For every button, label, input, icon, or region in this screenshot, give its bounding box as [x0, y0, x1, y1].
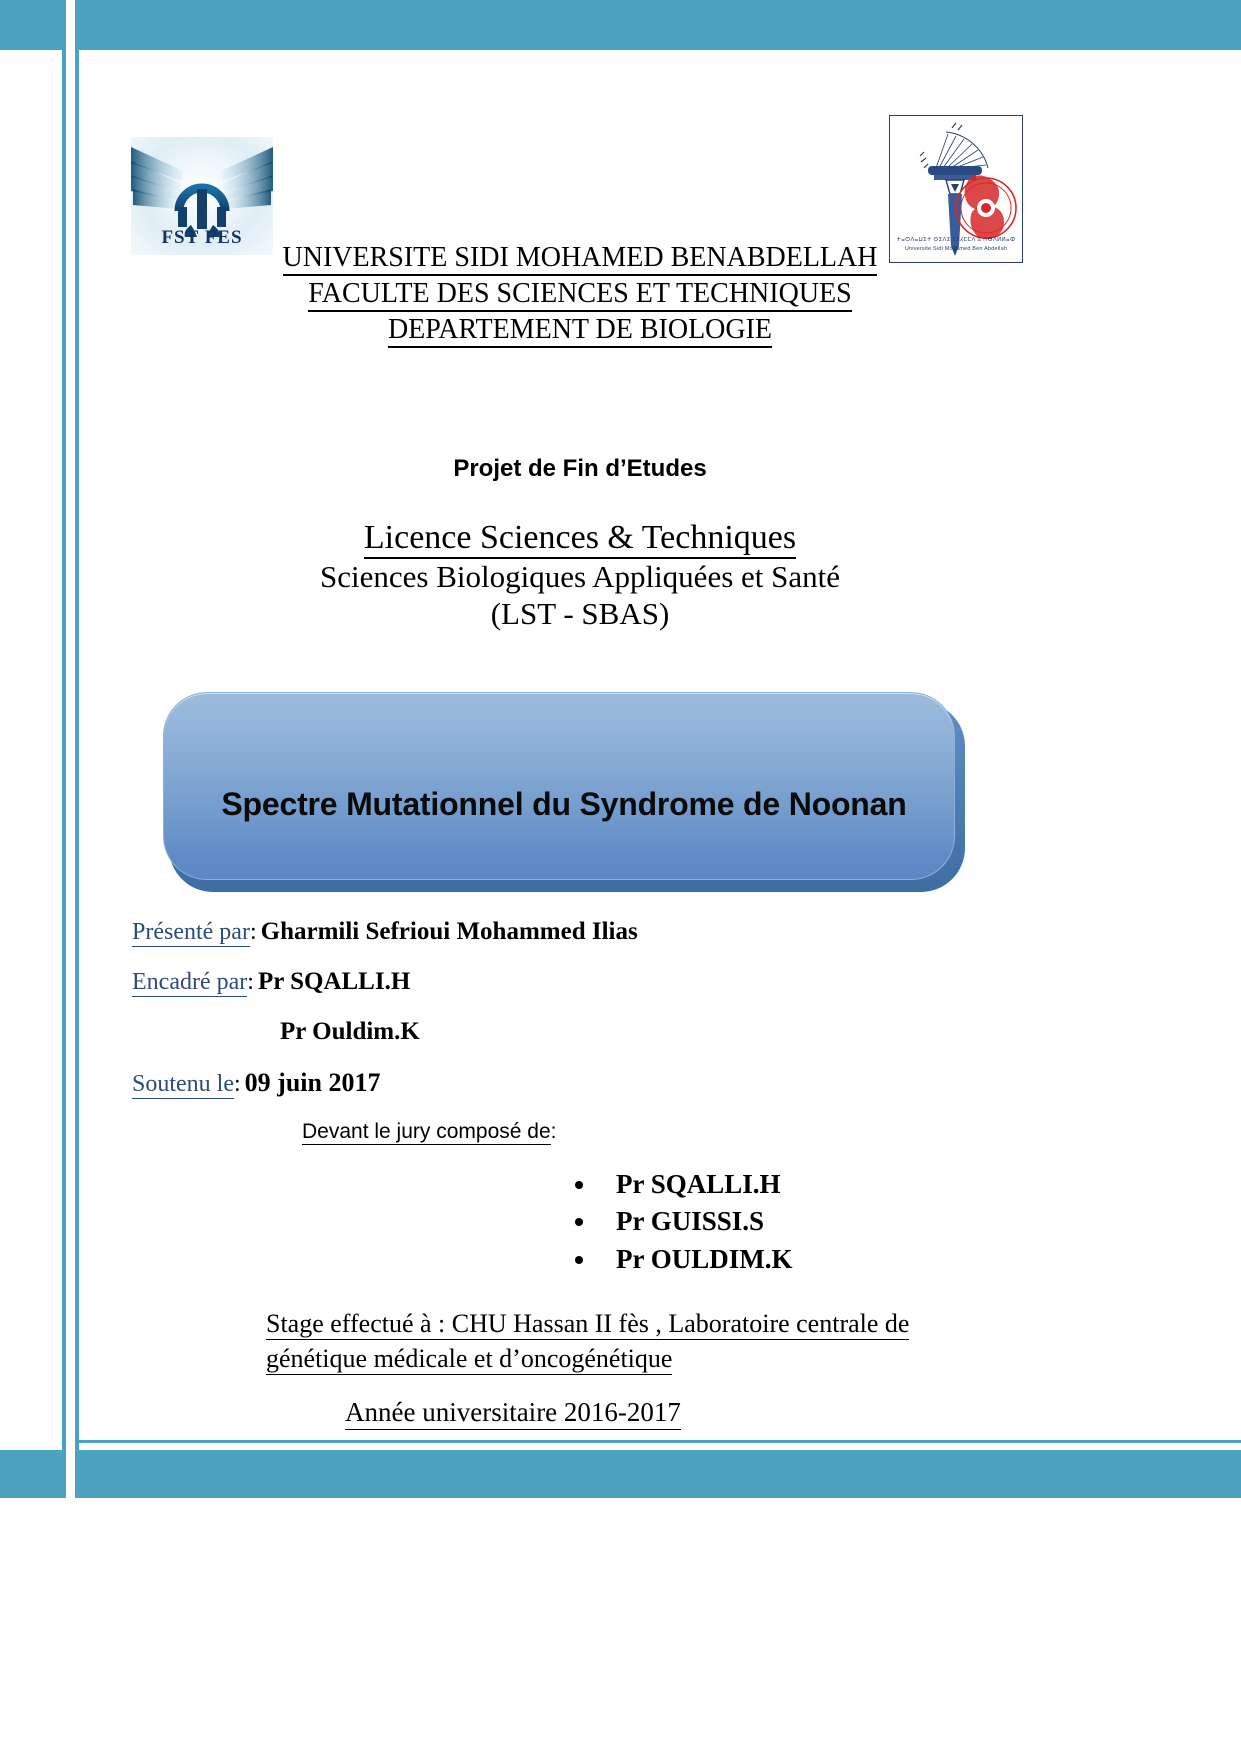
credit-row-supervisor: Encadré par: Pr SQALLI.H [132, 968, 1032, 996]
internship-line-1-text: Stage effectué à : CHU Hassan II fès , L… [266, 1309, 909, 1340]
presented-by-colon: : [250, 919, 257, 945]
supervisor-label: Encadré par [132, 969, 247, 997]
institution-header: UNIVERSITE SIDI MOHAMED BENABDELLAH FACU… [180, 240, 980, 347]
credit-row-defense-date: Soutenu le: 09 juin 2017 [132, 1068, 1032, 1098]
institution-line-department: DEPARTEMENT DE BIOLOGIE [180, 312, 980, 348]
supervisor-colon: : [247, 969, 254, 995]
project-type-label: Projet de Fin d’Etudes [180, 455, 980, 483]
jury-member-item: Pr OULDIM.K [598, 1241, 793, 1278]
institution-department-text: DEPARTEMENT DE BIOLOGIE [388, 314, 772, 348]
jury-heading-text: Devant le jury composé de [302, 1120, 551, 1145]
page-border-top-left-block [0, 0, 62, 50]
page-border-bottom-rule [79, 1440, 1241, 1443]
internship-line-2-text: génétique médicale et d’oncogénétique [266, 1344, 672, 1375]
presented-by-value: Gharmili Sefrioui Mohammed Ilias [261, 918, 638, 945]
institution-faculty-text: FACULTE DES SCIENCES ET TECHNIQUES [308, 278, 851, 312]
jury-heading-colon: : [551, 1120, 557, 1143]
fst-fes-logo: FST FES [131, 137, 273, 255]
internship-line-2: génétique médicale et d’oncogénétique [266, 1341, 966, 1376]
page-border-top-bar [79, 0, 1241, 50]
degree-block: Licence Sciences & Techniques Sciences B… [140, 518, 1020, 632]
jury-member-item: Pr SQALLI.H [598, 1166, 793, 1203]
credit-row-presented-by: Présenté par: Gharmili Sefrioui Mohammed… [132, 918, 1032, 946]
jury-heading: Devant le jury composé de: [302, 1120, 556, 1144]
page-border-bottom-left-block [0, 1450, 62, 1498]
internship-line-1: Stage effectué à : CHU Hassan II fès , L… [266, 1306, 966, 1341]
thesis-title-text: Spectre Mutationnel du Syndrome de Noona… [163, 786, 965, 823]
degree-diploma-text: Licence Sciences & Techniques [364, 519, 796, 559]
jury-member-item: Pr GUISSI.S [598, 1203, 793, 1240]
page-border-inner-vertical-line [75, 0, 79, 1498]
page-border-bottom-bar [79, 1450, 1241, 1498]
degree-code-text: (LST - SBAS) [140, 595, 1020, 632]
supervisor-value-primary: Pr SQALLI.H [258, 968, 410, 995]
defense-date-value: 09 juin 2017 [245, 1068, 381, 1097]
presented-by-label: Présenté par [132, 919, 250, 947]
jury-members-list: Pr SQALLI.H Pr GUISSI.S Pr OULDIM.K [560, 1166, 793, 1278]
internship-block: Stage effectué à : CHU Hassan II fès , L… [266, 1306, 966, 1376]
credits-block: Présenté par: Gharmili Sefrioui Mohammed… [132, 918, 1032, 1120]
institution-university-text: UNIVERSITE SIDI MOHAMED BENABDELLAH [283, 242, 878, 276]
supervisor-value-secondary: Pr Ouldim.K [132, 1018, 1032, 1046]
defense-date-label: Soutenu le [132, 1071, 234, 1099]
defense-date-colon: : [234, 1071, 241, 1097]
institution-line-university: UNIVERSITE SIDI MOHAMED BENABDELLAH [180, 240, 980, 276]
page-border-outer-vertical-line [62, 0, 66, 1498]
thesis-title-banner: Spectre Mutationnel du Syndrome de Noona… [163, 692, 965, 892]
academic-year-text: Année universitaire 2016-2017 [345, 1397, 681, 1430]
degree-diploma-line: Licence Sciences & Techniques [140, 518, 1020, 558]
degree-specialty-text: Sciences Biologiques Appliquées et Santé [140, 558, 1020, 595]
institution-line-faculty: FACULTE DES SCIENCES ET TECHNIQUES [180, 276, 980, 312]
